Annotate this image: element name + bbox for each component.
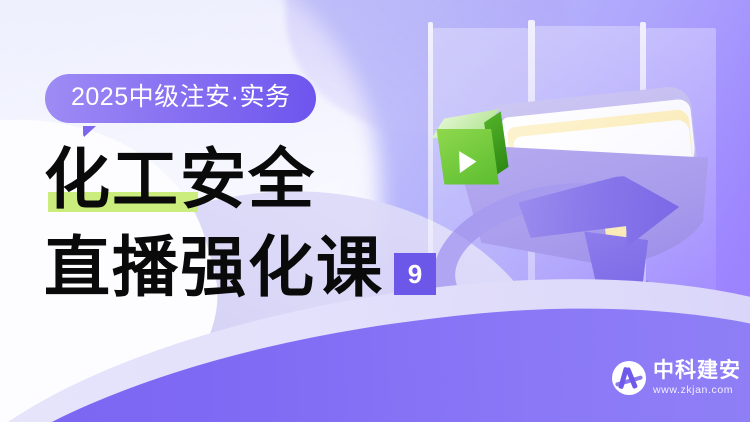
brand-logo: 中科建安 www.zkjan.com	[612, 360, 741, 396]
brand-name: 中科建安	[653, 360, 741, 381]
course-banner: 2025中级注安·实务 化工安全 直播强化课 9 中科建安 www.zkjan.…	[0, 0, 750, 422]
brand-logo-text: 中科建安 www.zkjan.com	[653, 360, 741, 396]
headline-line-2: 直播强化课 9	[44, 236, 474, 302]
course-badge-tail	[83, 126, 101, 138]
brand-url: www.zkjan.com	[653, 385, 741, 396]
episode-number-badge: 9	[394, 253, 436, 295]
course-badge-label: 2025中级注安·实务	[45, 74, 316, 123]
course-badge: 2025中级注安·实务	[45, 74, 316, 123]
headline-text-1: 化工安全	[44, 144, 316, 217]
zkjan-circle-mark-icon	[612, 361, 646, 395]
headline: 化工安全 直播强化课 9	[44, 148, 474, 302]
headline-line-1: 化工安全	[44, 148, 474, 214]
headline-text-2: 直播强化课	[44, 236, 384, 302]
